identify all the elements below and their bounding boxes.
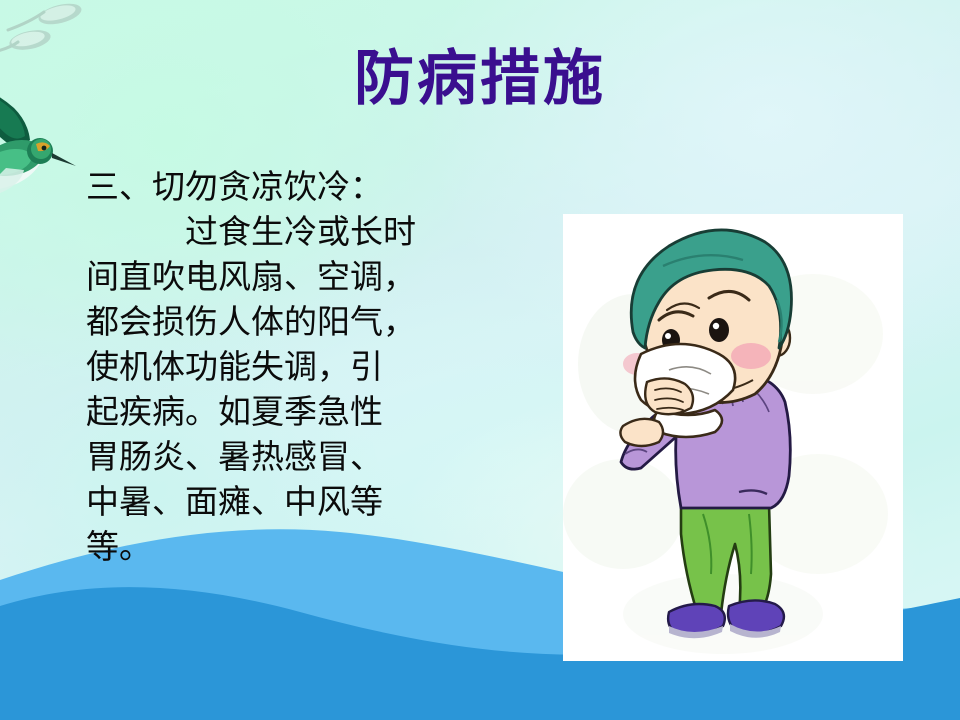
- sneezing-man-illustration: [563, 214, 903, 661]
- body-line: 等。: [86, 526, 486, 571]
- body-line: 使机体功能失调，引: [86, 346, 486, 391]
- page-title: 防病措施: [0, 48, 960, 111]
- body-line: 过食生冷或长时: [86, 211, 486, 256]
- body-text-block: 三、切勿贪凉饮冷： 过食生冷或长时 间直吹电风扇、空调， 都会损伤人体的阳气， …: [86, 166, 486, 571]
- body-line: 中暑、面瘫、中风等: [86, 481, 486, 526]
- body-line: 胃肠炎、暑热感冒、: [86, 436, 486, 481]
- slide-canvas: 防病措施 三、切勿贪凉饮冷： 过食生冷或长时 间直吹电风扇、空调， 都会损伤人体…: [0, 0, 960, 720]
- body-line: 都会损伤人体的阳气，: [86, 301, 486, 346]
- leaf-cluster-icon: [0, 0, 84, 53]
- illustration-frame: [563, 214, 903, 661]
- body-line: 三、切勿贪凉饮冷：: [86, 166, 486, 211]
- body-line: 间直吹电风扇、空调，: [86, 256, 486, 301]
- body-line: 起疾病。如夏季急性: [86, 391, 486, 436]
